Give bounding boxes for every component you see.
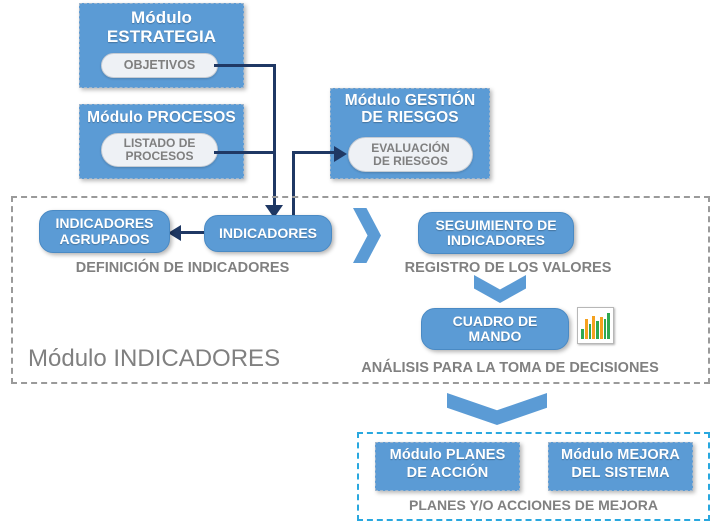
- capsule-cuadro-mando-line2: MANDO: [469, 329, 522, 344]
- connector-objetivos-vertical: [273, 64, 276, 209]
- caption-definicion-indicadores: DEFINICIÓN DE INDICADORES: [40, 261, 325, 277]
- capsule-indicadores-agrupados-line1: INDICADORES: [55, 216, 153, 231]
- arrow-into-evaluacion-riesgos: [334, 146, 347, 162]
- module-mejora-sistema[interactable]: Módulo MEJORA DEL SISTEMA: [548, 442, 693, 491]
- pill-listado-procesos-line2: PROCESOS: [125, 150, 193, 163]
- caption-planes-acciones-mejora: PLANES Y/O ACCIONES DE MEJORA: [357, 498, 710, 513]
- module-planes-accion[interactable]: Módulo PLANES DE ACCIÓN: [375, 442, 520, 491]
- capsule-cuadro-mando-line1: CUADRO DE: [453, 314, 538, 329]
- capsule-cuadro-de-mando[interactable]: CUADRO DE MANDO: [421, 308, 569, 350]
- capsule-indicadores-label: INDICADORES: [219, 226, 317, 241]
- pill-evaluacion-riesgos-line2: DE RIESGOS: [373, 155, 448, 168]
- capsule-seguimiento-line1: SEGUIMIENTO DE: [435, 218, 556, 233]
- pill-objetivos[interactable]: OBJETIVOS: [101, 53, 218, 78]
- module-estrategia-title-line1: Módulo: [80, 9, 243, 27]
- diagram-canvas: Módulo ESTRATEGIA OBJETIVOS Módulo PROCE…: [0, 0, 718, 527]
- module-procesos-title: Módulo PROCESOS: [80, 110, 243, 126]
- capsule-indicadores-agrupados-line2: AGRUPADOS: [60, 232, 150, 247]
- module-planes-accion-line1: Módulo PLANES: [376, 448, 519, 463]
- connector-objetivos-horizontal: [214, 64, 276, 67]
- module-gestion-riesgos-title-line1: Módulo GESTIÓN: [331, 93, 489, 109]
- pill-evaluacion-riesgos-line1: EVALUACIÓN: [371, 142, 449, 155]
- capsule-seguimiento-indicadores[interactable]: SEGUIMIENTO DE INDICADORES: [418, 212, 574, 254]
- module-gestion-riesgos-title-line2: DE RIESGOS: [331, 110, 489, 126]
- chevron-down-to-planes: [447, 393, 547, 425]
- pill-evaluacion-riesgos[interactable]: EVALUACIÓN DE RIESGOS: [348, 137, 473, 172]
- caption-registro-valores: REGISTRO DE LOS VALORES: [388, 261, 628, 277]
- pill-objetivos-label: OBJETIVOS: [124, 59, 196, 72]
- module-planes-accion-line2: DE ACCIÓN: [376, 466, 519, 481]
- capsule-seguimiento-line2: INDICADORES: [447, 233, 545, 248]
- caption-analisis-decisiones: ANÁLISIS PARA LA TOMA DE DECISIONES: [340, 361, 680, 377]
- bar-chart-icon: [577, 307, 614, 344]
- connector-riesgos-horizontal: [292, 151, 334, 154]
- capsule-indicadores[interactable]: INDICADORES: [204, 215, 332, 252]
- connector-procesos-horizontal: [214, 151, 276, 154]
- module-mejora-sistema-line1: Módulo MEJORA: [549, 448, 692, 463]
- indicadores-module-label: Módulo INDICADORES: [28, 345, 280, 373]
- pill-listado-procesos[interactable]: LISTADO DE PROCESOS: [101, 133, 218, 167]
- module-estrategia-title-line2: ESTRATEGIA: [80, 28, 243, 46]
- module-mejora-sistema-line2: DEL SISTEMA: [549, 466, 692, 481]
- capsule-indicadores-agrupados[interactable]: INDICADORES AGRUPADOS: [39, 210, 170, 253]
